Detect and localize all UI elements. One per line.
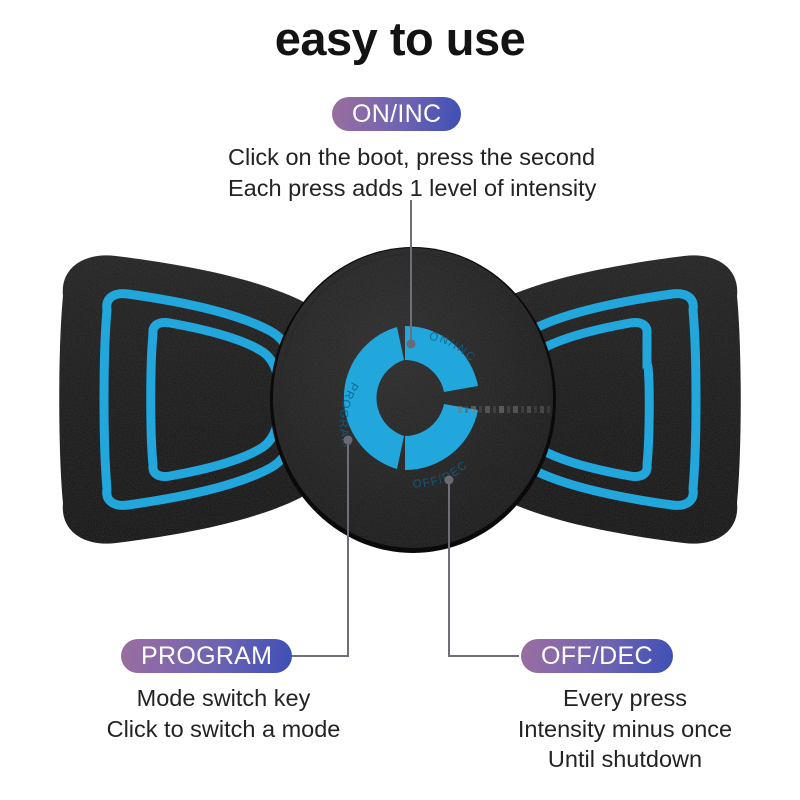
- description-line: Click to switch a mode: [86, 714, 361, 745]
- description-line: Until shutdown: [500, 744, 750, 775]
- segment-label-off-dec: OFF/DEC: [413, 459, 471, 491]
- description-line: Mode switch key: [86, 683, 361, 714]
- badge-off-dec[interactable]: OFF/DEC: [521, 639, 673, 673]
- page-title: easy to use: [0, 14, 800, 65]
- description-on-inc: Click on the boot, press the second Each…: [228, 142, 596, 203]
- segment-label-program: PROGRAM: [337, 380, 360, 450]
- badge-on-inc[interactable]: ON/INC: [332, 97, 461, 131]
- led-indicator-bar: [458, 406, 550, 413]
- description-line: Click on the boot, press the second: [228, 142, 596, 173]
- segment-program[interactable]: [344, 327, 404, 469]
- control-disc[interactable]: ON/INC PROGRAM OFF/DEC: [270, 247, 556, 553]
- pad-right-wing: [462, 255, 741, 543]
- description-program: Mode switch key Click to switch a mode: [86, 683, 361, 744]
- segment-off-dec[interactable]: [405, 404, 478, 470]
- pad-left-wing: [59, 255, 338, 543]
- description-line: Intensity minus once: [500, 714, 750, 745]
- description-line: Every press: [500, 683, 750, 714]
- infographic-stage: easy to use: [0, 0, 800, 800]
- leader-off-dec: [445, 476, 520, 657]
- description-off-dec: Every press Intensity minus once Until s…: [500, 683, 750, 775]
- segment-label-on-inc: ON/INC: [428, 331, 478, 365]
- segment-on-inc[interactable]: [405, 326, 478, 392]
- leader-on-inc: [407, 200, 416, 349]
- description-line: Each press adds 1 level of intensity: [228, 173, 596, 204]
- leader-program: [283, 436, 353, 657]
- badge-program[interactable]: PROGRAM: [121, 639, 292, 673]
